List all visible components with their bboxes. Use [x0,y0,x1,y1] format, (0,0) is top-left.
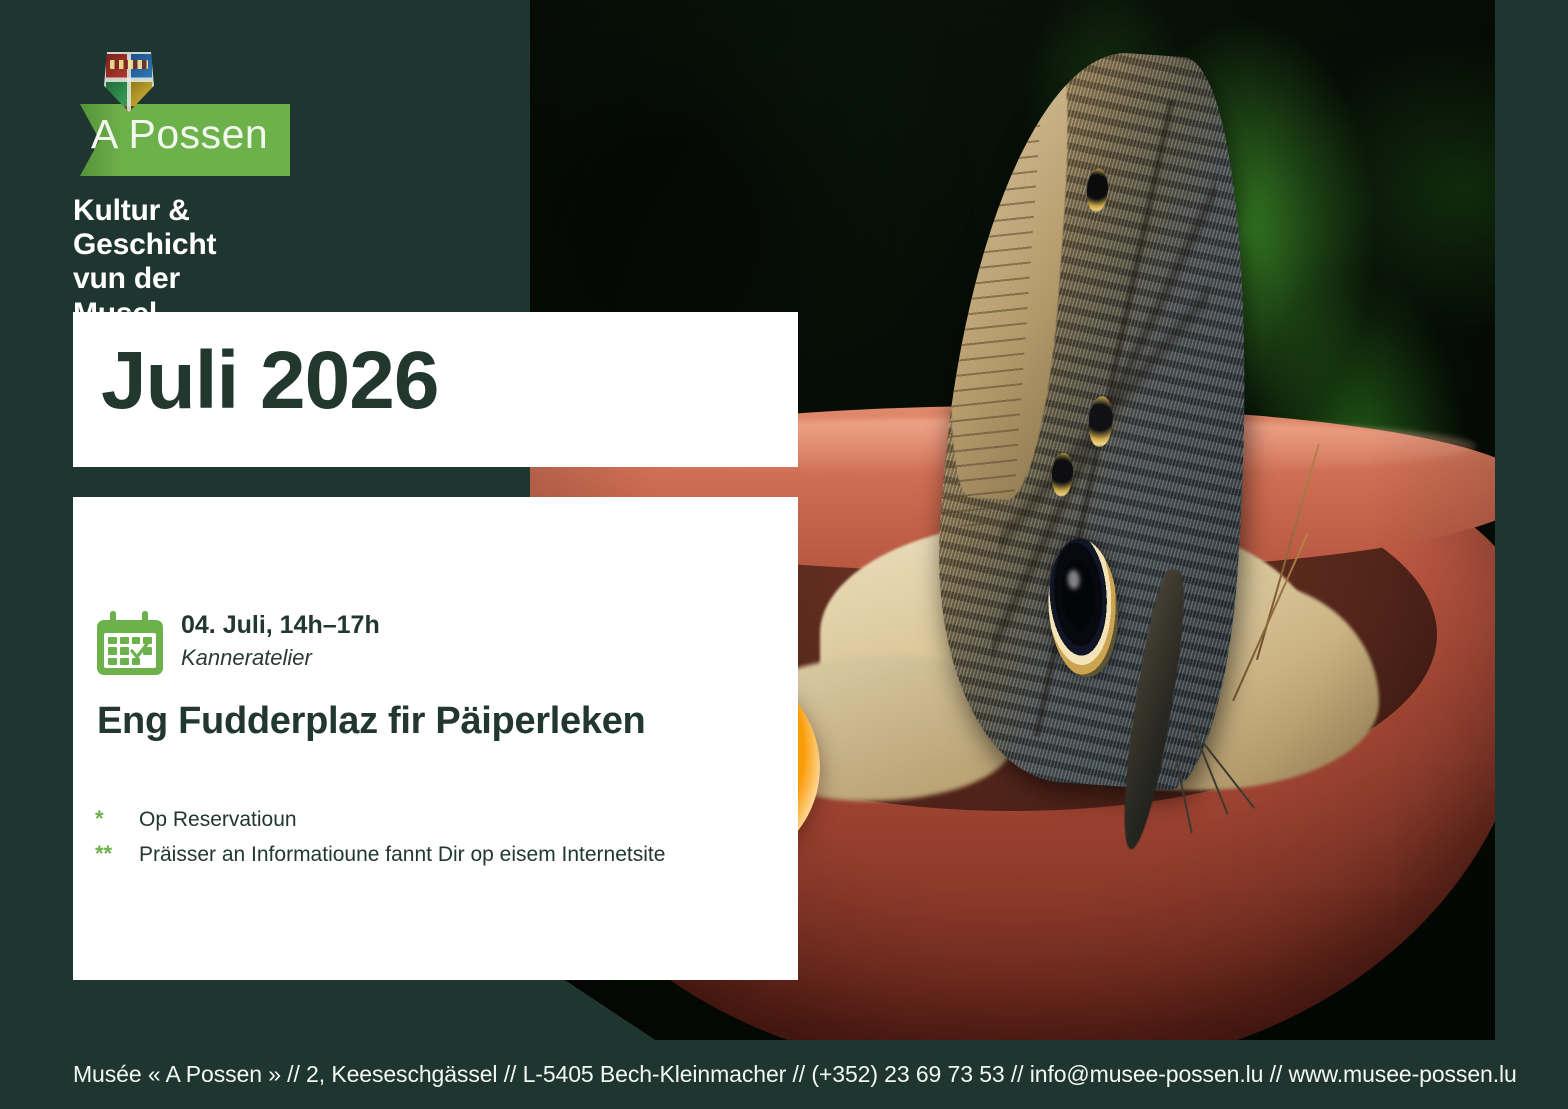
calendar-day [120,637,129,644]
owl-butterfly [916,52,1321,884]
event-category: Kanneratelier [181,645,380,671]
calendar-checkmark-icon [130,642,149,661]
footnote-item: * Op Reservatioun [95,802,665,837]
event-meta: 04. Juli, 14h–17h Kanneratelier [181,611,380,671]
calendar-day [108,647,117,654]
butterfly-antenna [1232,533,1308,701]
month-title-panel: Juli 2026 [73,312,798,467]
footnote-marker: ** [95,837,139,871]
footnotes: * Op Reservatioun ** Präisser an Informa… [95,802,665,871]
footnote-text: Präisser an Informatioune fannt Dir op e… [139,839,665,872]
event-title: Eng Fudderplaz fir Päiperleken [97,700,645,743]
contact-line: Musée « A Possen » // 2, Keeseschgässel … [73,1061,1517,1088]
event-entry: 04. Juli, 14h–17h Kanneratelier [97,611,380,675]
eyespot-glint [1067,569,1081,589]
shield-chief [110,60,149,69]
event-datetime: 04. Juli, 14h–17h [181,611,380,640]
poster-canvas: A Possen Kultur &Geschichtvun derMusel J… [0,0,1568,1109]
coat-of-arms-shield-icon [104,52,154,112]
calendar-day [120,658,129,665]
footnote-text: Op Reservatioun [139,804,297,837]
event-content-panel: 04. Juli, 14h–17h Kanneratelier Eng Fudd… [73,497,798,980]
calendar-day [108,637,117,644]
footnote-item: ** Präisser an Informatioune fannt Dir o… [95,837,665,872]
page-title: Juli 2026 [101,340,438,422]
logo-wordmark: A Possen [91,114,268,155]
calendar-day [120,647,129,654]
brand-logo: A Possen Kultur &Geschichtvun derMusel [73,44,293,294]
brand-subtitle: Kultur &Geschichtvun derMusel [73,194,216,331]
butterfly-wing [923,42,1273,793]
footnote-marker: * [95,802,139,836]
calendar-check-icon [97,611,163,675]
footer-bar: Musée « A Possen » // 2, Keeseschgässel … [0,1040,1568,1109]
calendar-day [108,658,117,665]
